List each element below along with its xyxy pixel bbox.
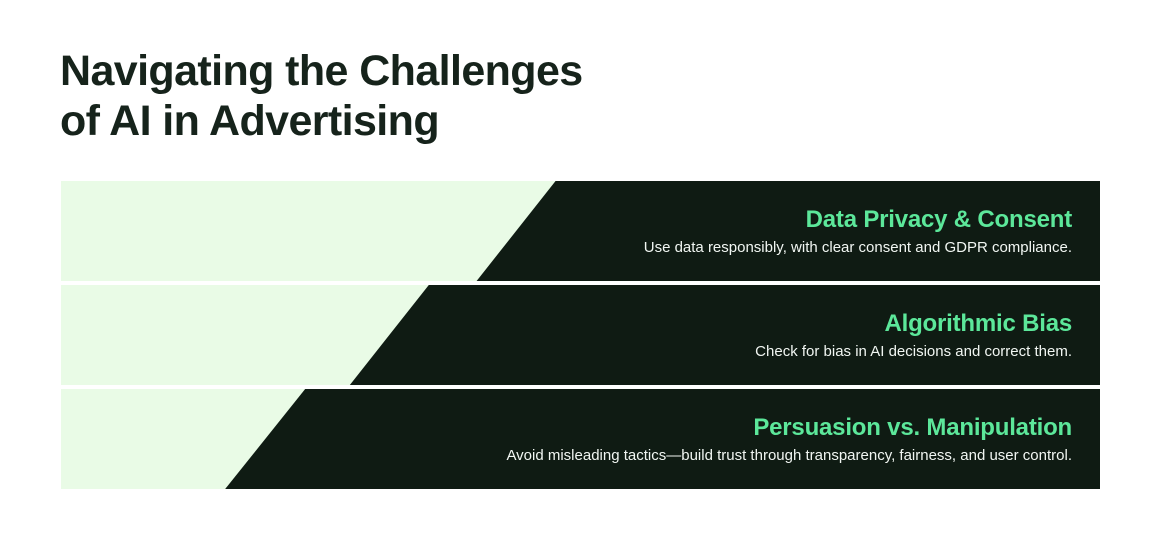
- challenge-band: Data Privacy & Consent Use data responsi…: [61, 181, 1100, 281]
- band-description: Use data responsibly, with clear consent…: [644, 238, 1072, 258]
- band-title: Data Privacy & Consent: [806, 205, 1072, 235]
- page-title: Navigating the Challenges of AI in Adver…: [60, 46, 760, 146]
- challenge-band: Persuasion vs. Manipulation Avoid mislea…: [61, 389, 1100, 489]
- challenge-band-list: Data Privacy & Consent Use data responsi…: [61, 181, 1100, 489]
- band-description: Avoid misleading tactics—build trust thr…: [506, 446, 1072, 466]
- band-content: Persuasion vs. Manipulation Avoid mislea…: [506, 389, 1072, 489]
- band-content: Data Privacy & Consent Use data responsi…: [644, 181, 1072, 281]
- band-content: Algorithmic Bias Check for bias in AI de…: [755, 285, 1072, 385]
- band-title: Persuasion vs. Manipulation: [753, 413, 1072, 443]
- challenge-band: Algorithmic Bias Check for bias in AI de…: [61, 285, 1100, 385]
- band-title: Algorithmic Bias: [885, 309, 1073, 339]
- band-description: Check for bias in AI decisions and corre…: [755, 342, 1072, 362]
